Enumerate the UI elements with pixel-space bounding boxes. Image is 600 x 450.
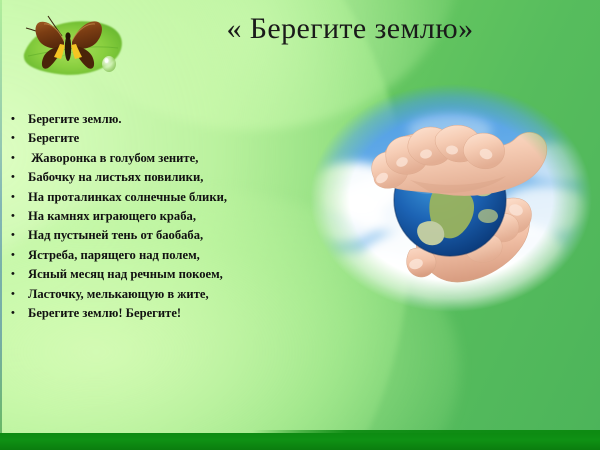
list-item: На камнях играющего краба, [6,207,306,226]
list-item: Берегите [6,129,306,148]
butterfly-on-leaf-image [14,8,132,82]
list-item: Жаворонка в голубом зените, [6,149,306,168]
list-item: Бабочку на листьях повилики, [6,168,306,187]
list-item: Ястреба, парящего над полем, [6,246,306,265]
list-item: Берегите землю! Берегите! [6,304,306,323]
hands-holding-earth-image [310,84,592,312]
poem-list: Берегите землю. Берегите Жаворонка в гол… [6,110,306,323]
bottom-green-band [0,433,600,450]
presentation-slide: « Берегите землю» Берегите землю. Береги… [0,0,600,450]
list-item: Ласточку, мелькающую в жите, [6,285,306,304]
slide-title: « Берегите землю» [150,12,550,46]
left-edge-line [0,0,2,450]
list-item: Ясный месяц над речным покоем, [6,265,306,284]
list-item: Берегите землю. [6,110,306,129]
list-item: На проталинках солнечные блики, [6,188,306,207]
list-item: Над пустыней тень от баобаба, [6,226,306,245]
